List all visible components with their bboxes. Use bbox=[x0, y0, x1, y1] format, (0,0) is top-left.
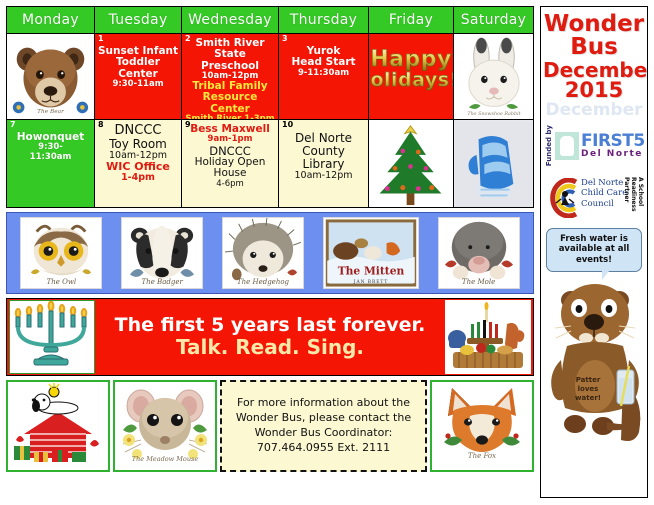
menorah-image bbox=[9, 300, 95, 374]
kwanzaa-image bbox=[445, 300, 531, 374]
image-caption: The Snowshoe Rabbit bbox=[467, 111, 520, 117]
strip-tile-owl: The Owl bbox=[20, 217, 102, 289]
title-line-1: Wonder bbox=[543, 13, 645, 36]
day-header-monday: Monday bbox=[7, 7, 95, 33]
event-time: Smith River 1-3pm bbox=[182, 115, 278, 119]
calendar-cell-day-9: 9 Bess Maxwell 9am-1pm DNCCC Holiday Ope… bbox=[182, 120, 279, 207]
event-line: State Preschool bbox=[182, 49, 278, 72]
calendar-week-row-1: The Bear 1 Sunset Infant Toddler Center … bbox=[6, 34, 534, 120]
bottom-tile-fox: The Fox bbox=[430, 380, 534, 472]
event-line: House bbox=[182, 168, 278, 179]
slogan-line-1: The first 5 years last forever. bbox=[101, 315, 439, 337]
event-time: 9:30-11am bbox=[95, 80, 181, 89]
slogan-line-2: Talk. Read. Sing. bbox=[101, 336, 439, 359]
holiday-greeting-line1: Happy bbox=[370, 48, 452, 71]
rabbit-portrait-icon: The Snowshoe Rabbit bbox=[454, 36, 533, 119]
event-time: 4-6pm bbox=[182, 180, 278, 189]
bottom-tile-snoopy bbox=[6, 380, 110, 472]
calendar-week-row-2: 7 Howonquet 9:30- 11:30am 8 DNCCC Toy Ro… bbox=[6, 120, 534, 208]
rainbow-child-icon bbox=[545, 178, 579, 218]
dnccc-logo: Del Norte Child Care Council A School Re… bbox=[543, 174, 645, 226]
first5-logo: Funded by FIRST5 Del Norte bbox=[545, 122, 643, 170]
event-line: Toddler Center bbox=[95, 57, 181, 80]
calendar-cell-day-1: 1 Sunset Infant Toddler Center 9:30-11am bbox=[95, 34, 182, 119]
bottom-tile-meadow-mouse: The Meadow Mouse bbox=[113, 380, 217, 472]
beaver-mascot-icon: Patter loves water! bbox=[541, 274, 648, 446]
image-caption: The Owl bbox=[21, 278, 101, 286]
first5-region: Del Norte bbox=[581, 150, 645, 159]
calendar-cell-bear-image: The Bear bbox=[7, 34, 95, 119]
calendar-header-row: Monday Tuesday Wednesday Thursday Friday… bbox=[6, 6, 534, 34]
image-caption: The Hedgehog bbox=[223, 278, 303, 286]
day-number: 9 bbox=[185, 121, 191, 129]
dnccc-name: Del Norte Child Care Council bbox=[581, 178, 627, 210]
sidebar-ghost-text: December bbox=[541, 100, 647, 120]
event-line: County Library bbox=[279, 145, 368, 171]
calendar-cell-day-10: 10 Del Norte County Library 10am-12pm bbox=[279, 120, 369, 207]
first5-brand: FIRST5 bbox=[581, 133, 645, 150]
day-number: 8 bbox=[98, 121, 104, 129]
day-number: 10 bbox=[282, 121, 293, 129]
calendar-cell-happy-holidays: Happy Holidays!! bbox=[369, 34, 454, 119]
calendar-cell-mitten-image bbox=[454, 120, 533, 207]
event-time: 10am-12pm bbox=[279, 171, 368, 181]
speech-bubble: Fresh water is available at all events! bbox=[546, 228, 642, 272]
svg-text:The Bear: The Bear bbox=[37, 109, 65, 115]
calendar-cell-tree-image bbox=[369, 120, 454, 207]
hand-icon bbox=[555, 132, 579, 160]
day-header-friday: Friday bbox=[369, 7, 454, 33]
contact-info-text: For more information about the Wonder Bu… bbox=[226, 396, 421, 455]
wonder-bus-calendar-page: Monday Tuesday Wednesday Thursday Friday… bbox=[0, 0, 654, 505]
image-caption: The Mole bbox=[439, 278, 519, 286]
animal-illustration-strip: The Owl The Badger bbox=[6, 212, 534, 294]
calendar-cell-day-3: 3 Yurok Head Start 9-11:30am bbox=[279, 34, 369, 119]
calendar-cell-day-2: 2 Smith River State Preschool 10am-12pm … bbox=[182, 34, 279, 119]
svg-text:The Mitten: The Mitten bbox=[337, 264, 404, 277]
beaver-mascot: Patter loves water! bbox=[541, 274, 647, 446]
event-line: Head Start bbox=[279, 57, 368, 68]
contact-info-box: For more information about the Wonder Bu… bbox=[220, 380, 427, 472]
day-number: 3 bbox=[282, 35, 288, 43]
dnccc-name-line2: Child Care bbox=[581, 188, 627, 199]
sidebar-title: Wonder Bus December 2015 bbox=[541, 7, 647, 104]
image-caption: The Meadow Mouse bbox=[132, 455, 199, 463]
strip-tile-hedgehog: The Hedgehog bbox=[222, 217, 304, 289]
dnccc-name-line1: Del Norte bbox=[581, 178, 627, 189]
title-line-3: December bbox=[543, 60, 645, 80]
strip-tile-badger: The Badger bbox=[121, 217, 203, 289]
kwanzaa-basket-icon bbox=[445, 300, 531, 374]
event-line: Del Norte bbox=[279, 132, 368, 145]
holiday-greeting-line2: Holidays!! bbox=[369, 71, 454, 91]
strip-tile-book-the-mitten: The Mitten JAN BRETT bbox=[323, 217, 419, 289]
shirt-text-line3: water! bbox=[575, 394, 601, 402]
dnccc-partner-label: A School Readiness Partner bbox=[623, 177, 644, 226]
title-line-4: 2015 bbox=[543, 80, 645, 101]
event-line: DNCCC bbox=[95, 124, 181, 138]
sidebar-panel: Wonder Bus December 2015 December Funded… bbox=[540, 6, 648, 498]
image-caption: The Badger bbox=[122, 278, 202, 286]
calendar-cell-day-8: 8 DNCCC Toy Room 10am-12pm WIC Office 1-… bbox=[95, 120, 182, 207]
slogan-text: The first 5 years last forever. Talk. Re… bbox=[95, 315, 445, 360]
event-line: Resource Center bbox=[182, 92, 278, 115]
meadow-mouse-portrait-icon: The Meadow Mouse bbox=[115, 382, 215, 466]
calendar-cell-day-7: 7 Howonquet 9:30- 11:30am bbox=[7, 120, 95, 207]
calendar-area: Monday Tuesday Wednesday Thursday Friday… bbox=[6, 6, 534, 498]
day-header-thursday: Thursday bbox=[279, 7, 369, 33]
slogan-banner: The first 5 years last forever. Talk. Re… bbox=[6, 298, 534, 376]
calendar-cell-rabbit-image: The Snowshoe Rabbit bbox=[454, 34, 533, 119]
event-time: 1-4pm bbox=[95, 173, 181, 183]
title-line-2: Bus bbox=[543, 36, 645, 59]
event-time: 11:30am bbox=[7, 153, 94, 162]
image-caption: The Fox bbox=[468, 452, 496, 460]
shirt-text-line2: loves bbox=[578, 385, 599, 393]
day-header-tuesday: Tuesday bbox=[95, 7, 182, 33]
bottom-row: The Meadow Mouse For more information ab… bbox=[6, 380, 534, 472]
day-header-wednesday: Wednesday bbox=[182, 7, 279, 33]
fox-portrait-icon: The Fox bbox=[432, 382, 532, 466]
dnccc-name-line3: Council bbox=[581, 199, 627, 210]
day-number: 1 bbox=[98, 35, 104, 43]
strip-tile-mole: The Mole bbox=[438, 217, 520, 289]
christmas-tree-icon bbox=[369, 122, 453, 207]
day-header-saturday: Saturday bbox=[454, 7, 533, 33]
snoopy-doghouse-presents-icon bbox=[8, 382, 108, 466]
funded-by-label: Funded by bbox=[545, 125, 553, 166]
day-number: 7 bbox=[10, 121, 16, 129]
bear-portrait-icon: The Bear bbox=[7, 36, 94, 119]
event-time: 9-11:30am bbox=[279, 69, 368, 78]
menorah-icon bbox=[10, 301, 92, 371]
blue-mitten-icon bbox=[454, 122, 533, 207]
svg-text:JAN BRETT: JAN BRETT bbox=[353, 280, 388, 285]
day-number: 2 bbox=[185, 35, 191, 43]
book-cover-the-mitten-icon: The Mitten JAN BRETT bbox=[324, 218, 418, 288]
shirt-text-line1: Patter bbox=[576, 376, 601, 384]
